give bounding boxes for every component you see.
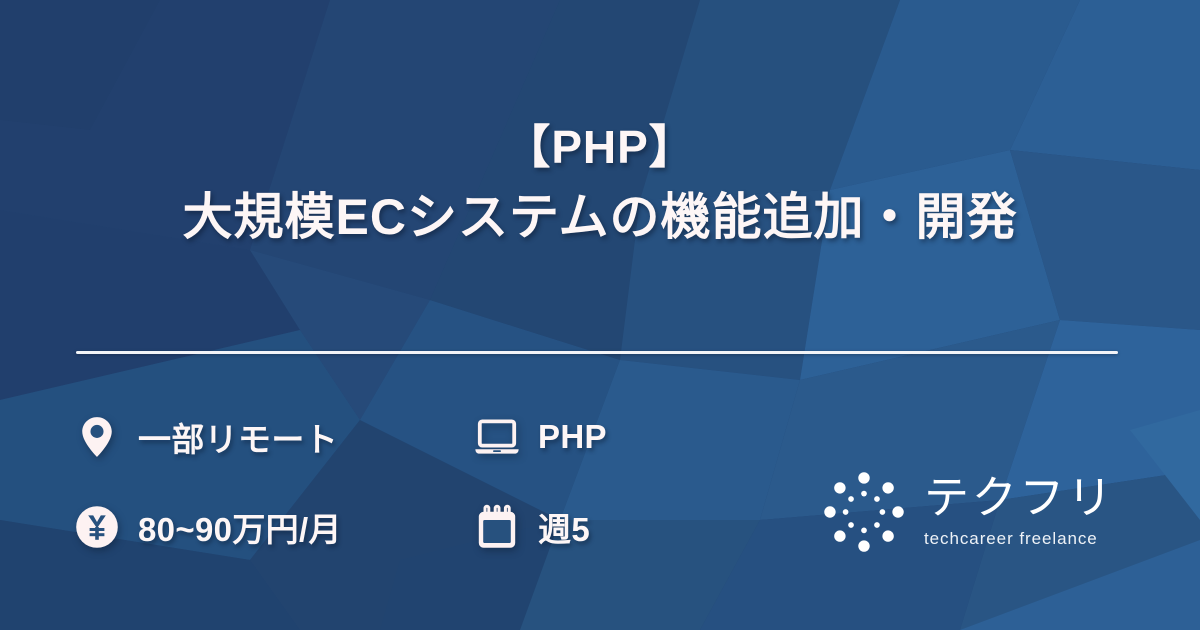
page-title: 【PHP】 大規模ECシステムの機能追加・開発	[0, 118, 1200, 249]
dot-cluster-icon	[818, 466, 910, 558]
spec-label-pay: 80~90万円/月	[138, 503, 342, 551]
banner-content: 【PHP】 大規模ECシステムの機能追加・開発 一部リモート	[0, 0, 1200, 630]
yen-circle-icon	[72, 502, 122, 552]
spec-item-pay: 80~90万円/月	[72, 502, 472, 552]
logo-tagline: techcareer freelance	[924, 529, 1098, 549]
logo-text-group: テクフリ techcareer freelance	[924, 475, 1115, 549]
spec-label-skill: PHP	[538, 418, 607, 456]
laptop-icon	[472, 412, 522, 462]
spec-item-days: 週5	[472, 502, 832, 552]
divider	[76, 351, 1118, 354]
brand-logo: テクフリ techcareer freelance	[818, 466, 1138, 558]
location-pin-icon	[72, 412, 122, 462]
calendar-icon	[472, 502, 522, 552]
logo-wordmark: テクフリ	[924, 475, 1115, 520]
spec-item-skill: PHP	[472, 412, 832, 462]
spec-list: 一部リモート PHP	[72, 392, 832, 572]
spec-label-days: 週5	[538, 503, 590, 551]
spec-label-work-style: 一部リモート	[138, 413, 338, 461]
spec-item-work-style: 一部リモート	[72, 412, 472, 462]
job-banner-card: 【PHP】 大規模ECシステムの機能追加・開発 一部リモート	[0, 0, 1200, 630]
title-main: 大規模ECシステムの機能追加・開発	[60, 185, 1140, 249]
title-tag-bracketed: 【PHP】	[60, 118, 1140, 177]
